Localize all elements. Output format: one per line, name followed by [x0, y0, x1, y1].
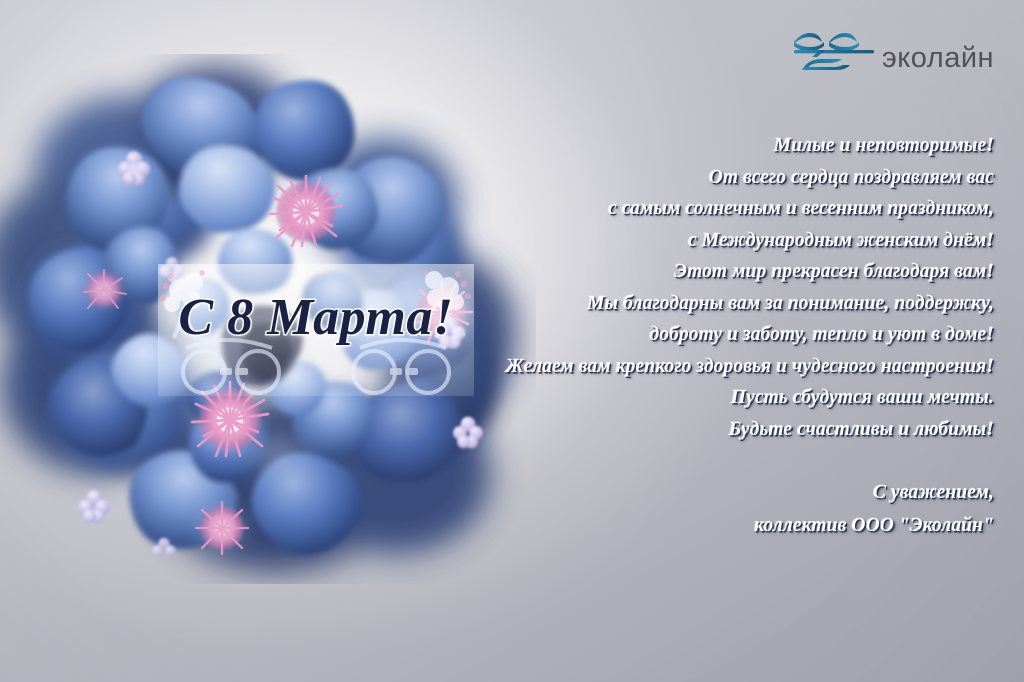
- message-line: доброту и заботу, тепло и уют в доме!: [354, 319, 994, 351]
- ecoline-wave-leaf-logo-icon: [786, 28, 882, 78]
- ecoline-logo-text: эколайн: [882, 44, 994, 73]
- message-line: Будьте счастливы и любимы!: [354, 414, 994, 446]
- stamen-cluster-top: [266, 174, 346, 250]
- message-signoff: С уважением, коллектив ООО "Эколайн": [354, 476, 994, 542]
- message-line: Желаем вам крепкого здоровья и чудесного…: [354, 351, 994, 383]
- greeting-message: Милые и неповторимые! От всего сердца по…: [354, 130, 994, 542]
- message-line: От всего сердца поздравляем вас: [354, 162, 994, 194]
- message-line: Этот мир прекрасен благодаря вам!: [354, 256, 994, 288]
- message-line: Мы благодарны вам за понимание, поддержк…: [354, 288, 994, 320]
- message-spacer: [354, 445, 994, 476]
- message-line: с Международным женским днём!: [354, 225, 994, 257]
- ecoline-logo[interactable]: эколайн: [786, 28, 996, 86]
- stamen-cluster-lower: [188, 498, 256, 558]
- signoff-line: С уважением,: [354, 476, 994, 509]
- message-line: с самым солнечным и весенним праздником,: [354, 193, 994, 225]
- message-line: Пусть сбудутся ваши мечты.: [354, 382, 994, 414]
- signoff-line: коллектив ООО "Эколайн": [354, 509, 994, 542]
- message-line: Милые и неповторимые!: [354, 130, 994, 162]
- greeting-card: С 8 Марта!: [0, 0, 1024, 682]
